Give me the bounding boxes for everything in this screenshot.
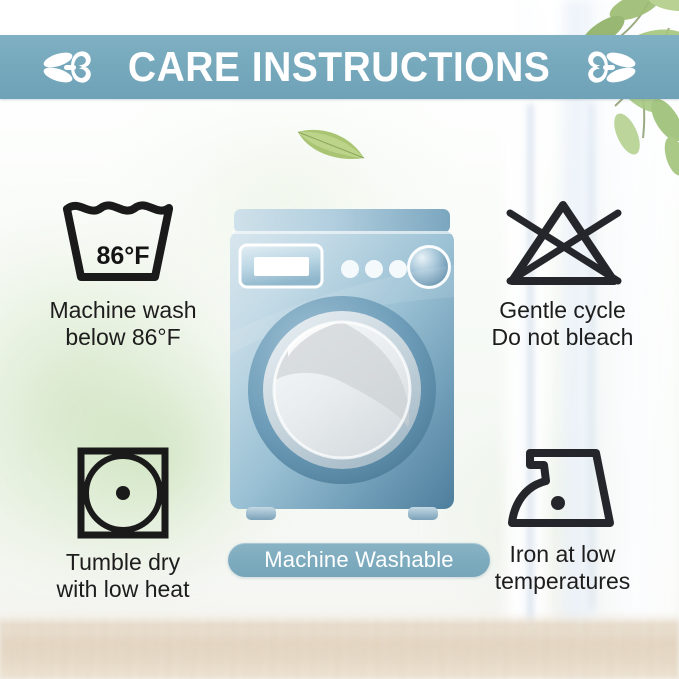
care-item-dry: Tumble dry with low heat [18,443,228,603]
care-item-dry-caption: Tumble dry with low heat [57,549,190,603]
header-banner: CARE INSTRUCTIONS [0,35,679,99]
detergent-drawer [240,245,322,287]
status-badge-label: Machine Washable [264,549,453,571]
care-item-bleach: Gentle cycle Do not bleach [455,195,670,351]
care-instructions-infographic: CARE INSTRUCTIONS [0,0,679,679]
washer-door [248,296,436,484]
care-item-iron: Iron at low temperatures [455,443,670,595]
care-item-iron-caption: Iron at low temperatures [495,541,631,595]
page-title: CARE INSTRUCTIONS [128,46,550,88]
care-item-wash-caption: Machine wash below 86°F [49,297,196,351]
fleur-de-lis-icon [585,44,639,90]
do-not-bleach-triangle-icon [500,195,626,291]
wash-temperature-value: 86°F [57,242,189,271]
tumble-dry-low-heat-icon [73,443,173,543]
care-item-wash: 86°F Machine wash below 86°F [18,195,228,351]
iron-low-temperature-icon [500,443,626,535]
wash-symbol-wrap: 86°F [57,195,189,291]
washing-machine-illustration [228,205,456,535]
status-badge: Machine Washable [228,543,490,577]
background-wood-edge [0,621,679,629]
floating-leaf-icon [296,122,366,164]
fleur-de-lis-icon [40,44,94,90]
care-item-bleach-caption: Gentle cycle Do not bleach [492,297,634,351]
